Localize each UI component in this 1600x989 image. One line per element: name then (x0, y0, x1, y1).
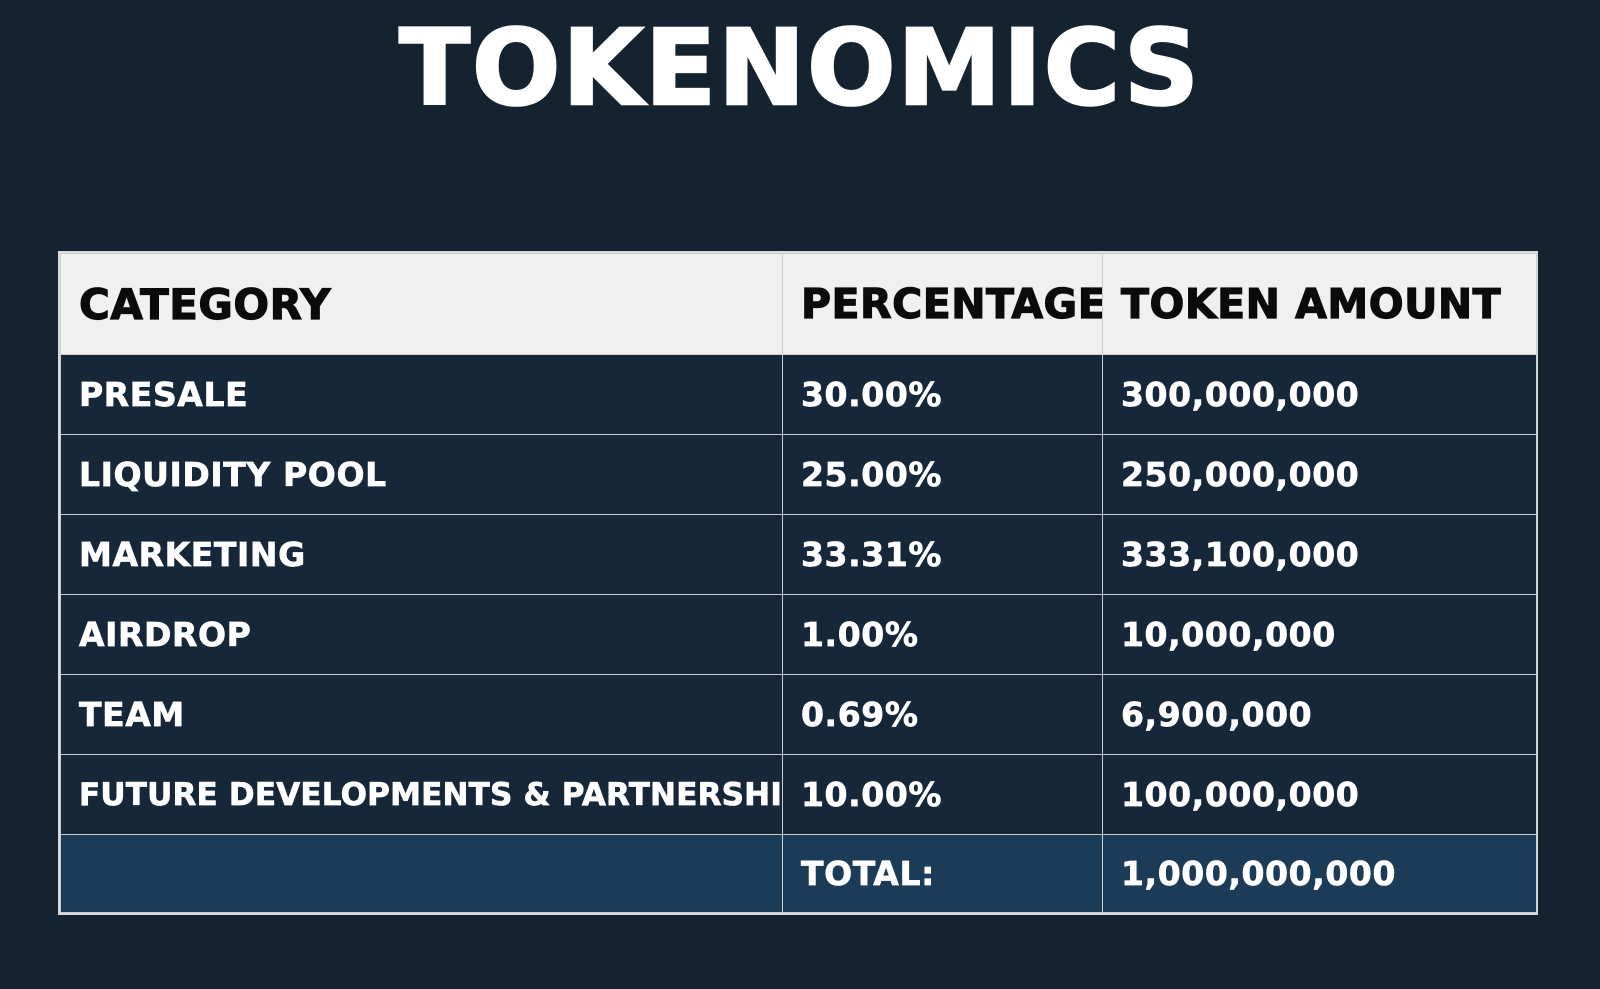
table-header-row: CATEGORY PERCENTAGE TOKEN AMOUNT (61, 254, 1537, 355)
cell-token-amount: 333,100,000 (1103, 515, 1537, 595)
table-row: AIRDROP 1.00% 10,000,000 (61, 595, 1537, 675)
cell-category: TEAM (61, 675, 783, 755)
column-header-token-amount[interactable]: TOKEN AMOUNT (1103, 254, 1537, 355)
column-header-category[interactable]: CATEGORY (61, 254, 783, 355)
cell-percentage: 25.00% (783, 435, 1103, 515)
cell-category: PRESALE (61, 355, 783, 435)
cell-category: MARKETING (61, 515, 783, 595)
cell-category: AIRDROP (61, 595, 783, 675)
table-row: FUTURE DEVELOPMENTS & PARTNERSHIPS 10.00… (61, 755, 1537, 835)
cell-percentage: 33.31% (783, 515, 1103, 595)
tokenomics-table: CATEGORY PERCENTAGE TOKEN AMOUNT PRESALE… (60, 253, 1537, 913)
cell-category: LIQUIDITY POOL (61, 435, 783, 515)
cell-token-amount: 100,000,000 (1103, 755, 1537, 835)
table-body: PRESALE 30.00% 300,000,000 LIQUIDITY POO… (61, 355, 1537, 913)
table-row: PRESALE 30.00% 300,000,000 (61, 355, 1537, 435)
tokenomics-table-container: CATEGORY PERCENTAGE TOKEN AMOUNT PRESALE… (58, 251, 1538, 915)
cell-percentage: 30.00% (783, 355, 1103, 435)
cell-total-label: TOTAL: (783, 835, 1103, 913)
cell-percentage: 1.00% (783, 595, 1103, 675)
table-row: MARKETING 33.31% 333,100,000 (61, 515, 1537, 595)
table-row: LIQUIDITY POOL 25.00% 250,000,000 (61, 435, 1537, 515)
table-total-row: TOTAL: 1,000,000,000 (61, 835, 1537, 913)
tokenomics-slide: TOKENOMICS CATEGORY PERCENTAGE TOKEN AMO… (0, 0, 1600, 989)
cell-token-amount: 250,000,000 (1103, 435, 1537, 515)
page-title: TOKENOMICS (0, 8, 1600, 128)
column-header-percentage[interactable]: PERCENTAGE (783, 254, 1103, 355)
cell-percentage: 10.00% (783, 755, 1103, 835)
table-header: CATEGORY PERCENTAGE TOKEN AMOUNT (61, 254, 1537, 355)
cell-total-empty (61, 835, 783, 913)
cell-token-amount: 6,900,000 (1103, 675, 1537, 755)
cell-total-amount: 1,000,000,000 (1103, 835, 1537, 913)
cell-token-amount: 10,000,000 (1103, 595, 1537, 675)
cell-percentage: 0.69% (783, 675, 1103, 755)
table-row: TEAM 0.69% 6,900,000 (61, 675, 1537, 755)
cell-category: FUTURE DEVELOPMENTS & PARTNERSHIPS (61, 755, 783, 835)
cell-token-amount: 300,000,000 (1103, 355, 1537, 435)
